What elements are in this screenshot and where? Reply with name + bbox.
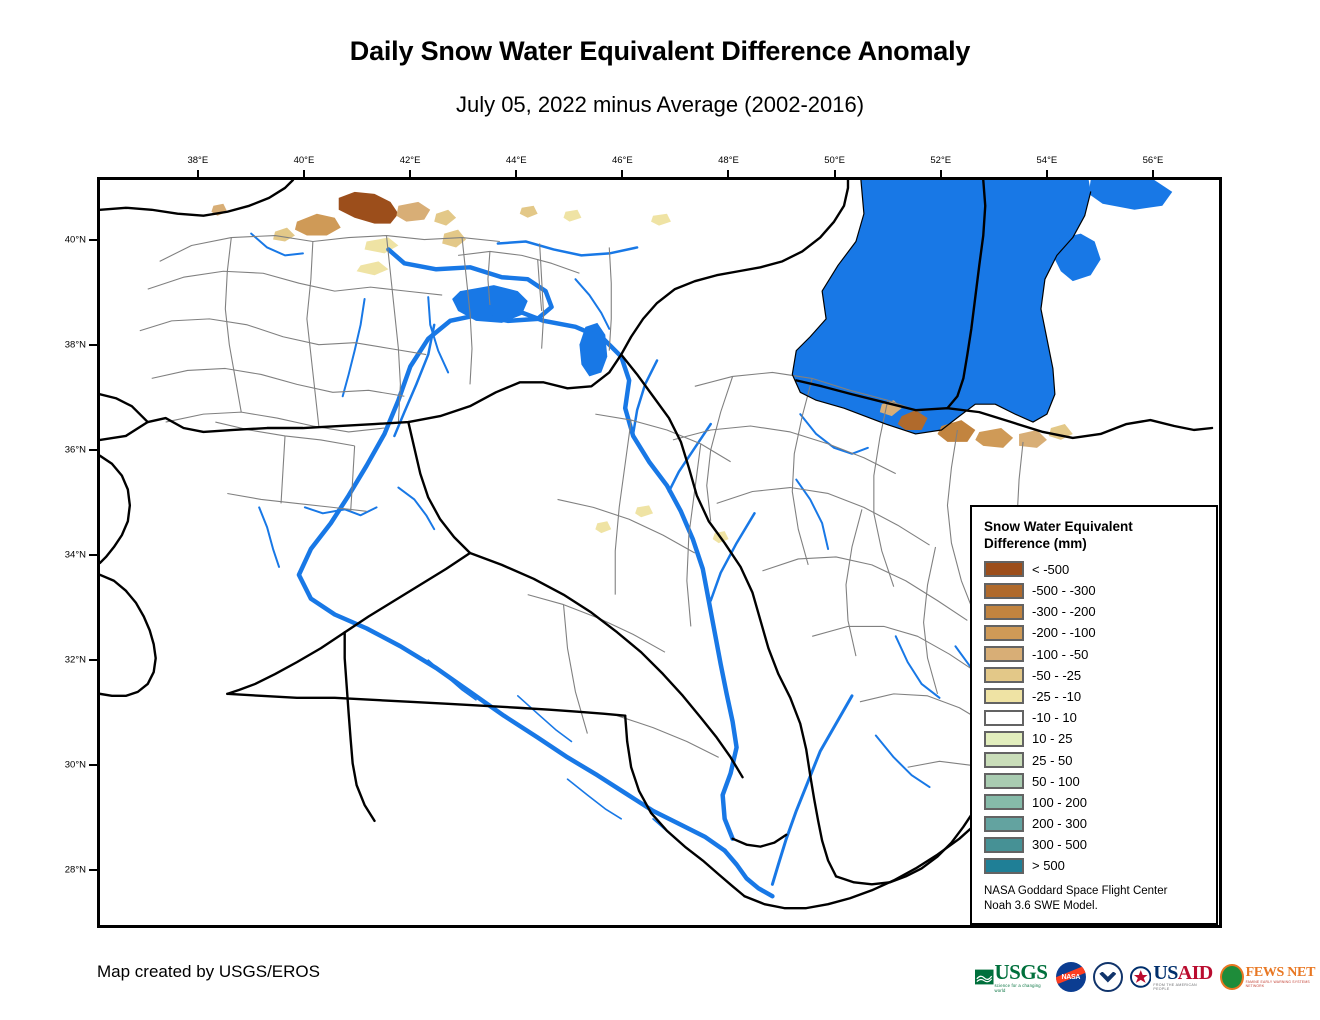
legend-row: 50 - 100	[984, 771, 1206, 792]
admin-iran-d2	[792, 378, 812, 564]
river-shatt-al-arab	[725, 851, 773, 897]
noaa-logo	[1093, 960, 1123, 994]
caspian-sea-northeast-arm	[1089, 180, 1173, 210]
legend-label: -25 - -10	[1032, 689, 1081, 704]
longitude-tick-label: 56°E	[1143, 155, 1164, 166]
longitude-tick-mark	[197, 170, 199, 178]
admin-iran-d3	[874, 400, 894, 586]
nasa-logo: NASA	[1056, 960, 1086, 994]
usaid-logo-tagline: FROM THE AMERICAN PEOPLE	[1153, 983, 1213, 991]
border-iran-iraq	[621, 355, 836, 877]
anomaly-patch-zagros-2	[635, 505, 653, 517]
latitude-tick-label: 34°N	[52, 550, 86, 561]
admin-turkey-4	[152, 368, 405, 396]
legend-credit: NASA Goddard Space Flight Center Noah 3.…	[984, 884, 1206, 914]
legend-label: 10 - 25	[1032, 731, 1072, 746]
admin-iraq-v1	[615, 420, 631, 595]
legend-label: 50 - 100	[1032, 774, 1080, 789]
legend-swatch	[984, 604, 1024, 620]
fewsnet-logo: FEWS NET FAMINE EARLY WARNING SYSTEMS NE…	[1220, 960, 1320, 994]
anomaly-patch-zagros-1	[595, 521, 611, 533]
legend-label: -500 - -300	[1032, 583, 1096, 598]
legend-label: > 500	[1032, 858, 1065, 873]
longitude-tick-label: 38°E	[187, 155, 208, 166]
legend-row: 100 - 200	[984, 792, 1206, 813]
latitude-tick-label: 32°N	[52, 655, 86, 666]
caspian-sea-east-shelf	[1053, 234, 1101, 282]
latitude-tick-label: 36°N	[52, 445, 86, 456]
fewsnet-globe-icon	[1220, 964, 1243, 990]
border-turkey-south	[100, 355, 621, 440]
legend-swatch	[984, 710, 1024, 726]
longitude-tick-mark	[515, 170, 517, 178]
usgs-wave-icon	[975, 967, 994, 987]
anomaly-patch-turkey-n3	[564, 210, 582, 222]
longitude-tick-label: 52°E	[930, 155, 951, 166]
legend-row: -50 - -25	[984, 665, 1206, 686]
legend-swatch	[984, 731, 1024, 747]
longitude-tick-mark	[834, 170, 836, 178]
admin-iran-d7	[924, 547, 938, 694]
longitude-tick-label: 54°E	[1037, 155, 1058, 166]
river-iran-interior-3	[896, 636, 940, 698]
legend-label: 25 - 50	[1032, 753, 1072, 768]
legend-swatch	[984, 667, 1024, 683]
legend-title-line1: Snow Water Equivalent	[984, 519, 1206, 536]
legend-label: 100 - 200	[1032, 795, 1087, 810]
legend-row: 10 - 25	[984, 728, 1206, 749]
usgs-logo: USGS science for a changing world	[975, 960, 1049, 994]
legend-label: -50 - -25	[1032, 668, 1081, 683]
border-iran-northwest	[621, 180, 848, 355]
legend-row: 200 - 300	[984, 813, 1206, 834]
latitude-tick-mark	[89, 764, 97, 766]
page-title: Daily Snow Water Equivalent Difference A…	[0, 36, 1320, 67]
river-syria-minor-2	[398, 488, 434, 530]
legend-row: -500 - -300	[984, 580, 1206, 601]
legend-row: < -500	[984, 559, 1206, 580]
legend-row: -100 - -50	[984, 644, 1206, 665]
river-balikh	[343, 299, 365, 396]
border-iraq-syria	[408, 422, 470, 553]
border-jordan-saudi	[345, 632, 375, 820]
longitude-tick-label: 40°E	[294, 155, 315, 166]
latitude-tick-mark	[89, 659, 97, 661]
latitude-tick-label: 30°N	[52, 760, 86, 771]
legend-label: < -500	[1032, 562, 1069, 577]
anomaly-patch-turkey-n2	[520, 206, 538, 218]
page-subtitle: July 05, 2022 minus Average (2002-2016)	[0, 92, 1320, 118]
longitude-tick-mark	[621, 170, 623, 178]
admin-iran-d6	[846, 509, 862, 656]
river-little-zab	[669, 424, 711, 491]
coast-levant-cyprus-edge	[100, 575, 156, 696]
latitude-tick-label: 28°N	[52, 865, 86, 876]
anomaly-patch-taurus	[357, 261, 389, 275]
admin-iraq-v3	[564, 605, 588, 734]
longitude-tick-label: 44°E	[506, 155, 527, 166]
admin-syria-v2	[351, 446, 355, 511]
admin-turkey-v2	[307, 242, 319, 427]
usaid-logo-text: USAID	[1153, 963, 1213, 983]
admin-turkey-v6	[609, 247, 611, 350]
legend-swatch	[984, 583, 1024, 599]
partner-logos: USGS science for a changing world NASA U…	[975, 957, 1320, 997]
usaid-shield-icon	[1130, 966, 1152, 988]
legend-label: -200 - -100	[1032, 625, 1096, 640]
longitude-tick-mark	[303, 170, 305, 178]
river-tigris	[518, 311, 737, 839]
fewsnet-logo-text: FEWS NET	[1246, 966, 1320, 980]
fewsnet-logo-tagline: FAMINE EARLY WARNING SYSTEMS NETWORK	[1246, 980, 1320, 988]
river-orontes	[259, 507, 279, 567]
longitude-tick-label: 42°E	[400, 155, 421, 166]
legend-swatch	[984, 646, 1024, 662]
latitude-tick-mark	[89, 239, 97, 241]
longitude-tick-mark	[1152, 170, 1154, 178]
legend-class-list: < -500-500 - -300-300 - -200-200 - -100-…	[984, 559, 1206, 877]
noaa-seal-icon	[1093, 962, 1123, 992]
admin-turkey-v1	[225, 238, 241, 413]
legend-swatch	[984, 858, 1024, 874]
legend-label: -10 - 10	[1032, 710, 1077, 725]
admin-iran-3	[717, 488, 930, 546]
usgs-logo-tagline: science for a changing world	[995, 983, 1049, 993]
river-armenia-aras	[498, 242, 637, 256]
legend-swatch	[984, 794, 1024, 810]
anomaly-patch-alborz-3	[975, 428, 1013, 448]
map-legend: Snow Water Equivalent Difference (mm) < …	[970, 505, 1218, 925]
legend-swatch	[984, 752, 1024, 768]
latitude-tick-label: 40°N	[52, 235, 86, 246]
anomaly-patch-caucasus-sp1	[273, 228, 295, 242]
legend-row: 25 - 50	[984, 749, 1206, 770]
longitude-tick-label: 50°E	[824, 155, 845, 166]
noaa-gull-icon	[1099, 972, 1116, 983]
usaid-logo: USAID FROM THE AMERICAN PEOPLE	[1130, 960, 1213, 994]
river-wadi-2	[518, 696, 572, 742]
longitude-tick-mark	[940, 170, 942, 178]
latitude-tick-mark	[89, 554, 97, 556]
anomaly-patch-caucasus-e	[396, 202, 430, 222]
admin-iraq-3	[528, 595, 665, 653]
border-syria-jordan-iraq	[227, 553, 470, 694]
legend-row: -200 - -100	[984, 622, 1206, 643]
longitude-tick-mark	[1046, 170, 1048, 178]
coast-levant	[100, 394, 148, 422]
admin-turkey-2	[148, 271, 442, 295]
river-iran-interior-1	[800, 414, 868, 454]
legend-swatch	[984, 688, 1024, 704]
legend-label: 200 - 300	[1032, 816, 1087, 831]
water-bodies	[452, 180, 1172, 434]
river-euphrates	[299, 249, 725, 850]
river-turkey-3	[575, 279, 609, 329]
nasa-logo-text: NASA	[1062, 974, 1081, 981]
legend-row: > 500	[984, 855, 1206, 876]
legend-row: 300 - 500	[984, 834, 1206, 855]
legend-row: -10 - 10	[984, 707, 1206, 728]
legend-title: Snow Water Equivalent Difference (mm)	[984, 519, 1206, 553]
nasa-meatball-icon: NASA	[1056, 962, 1086, 992]
anomaly-patch-caucasus-w	[295, 214, 341, 236]
longitude-tick-label: 46°E	[612, 155, 633, 166]
coast-levant-south	[100, 456, 130, 563]
anomaly-patch-caucasus	[339, 192, 399, 224]
legend-title-line2: Difference (mm)	[984, 536, 1206, 553]
anomaly-patch-turkey-n4	[651, 214, 671, 226]
legend-swatch	[984, 837, 1024, 853]
longitude-tick-mark	[409, 170, 411, 178]
longitude-tick-mark	[727, 170, 729, 178]
usgs-logo-text: USGS	[995, 962, 1049, 983]
anomaly-patch-caucasus-sp2	[434, 210, 456, 226]
legend-swatch	[984, 816, 1024, 832]
latitude-tick-label: 38°N	[52, 340, 86, 351]
latitude-tick-mark	[89, 344, 97, 346]
coast-marshes	[733, 835, 787, 847]
map-attribution: Map created by USGS/EROS	[97, 962, 320, 982]
border-iraq-saudi	[470, 553, 743, 777]
legend-row: -300 - -200	[984, 601, 1206, 622]
legend-swatch	[984, 773, 1024, 789]
longitude-tick-label: 48°E	[718, 155, 739, 166]
river-iran-interior-5	[876, 736, 930, 788]
border-saudi-kuwait-line	[227, 694, 625, 716]
admin-syria-v1	[281, 436, 285, 503]
latitude-tick-mark	[89, 869, 97, 871]
latitude-tick-mark	[89, 449, 97, 451]
admin-turkey-3	[140, 319, 426, 355]
legend-swatch	[984, 625, 1024, 641]
legend-label: -100 - -50	[1032, 647, 1088, 662]
admin-iran-4	[762, 557, 967, 620]
coast-black-sea	[100, 180, 293, 216]
admin-iraq-2	[558, 499, 695, 553]
legend-label: -300 - -200	[1032, 604, 1096, 619]
legend-swatch	[984, 561, 1024, 577]
legend-row: -25 - -10	[984, 686, 1206, 707]
legend-label: 300 - 500	[1032, 837, 1087, 852]
